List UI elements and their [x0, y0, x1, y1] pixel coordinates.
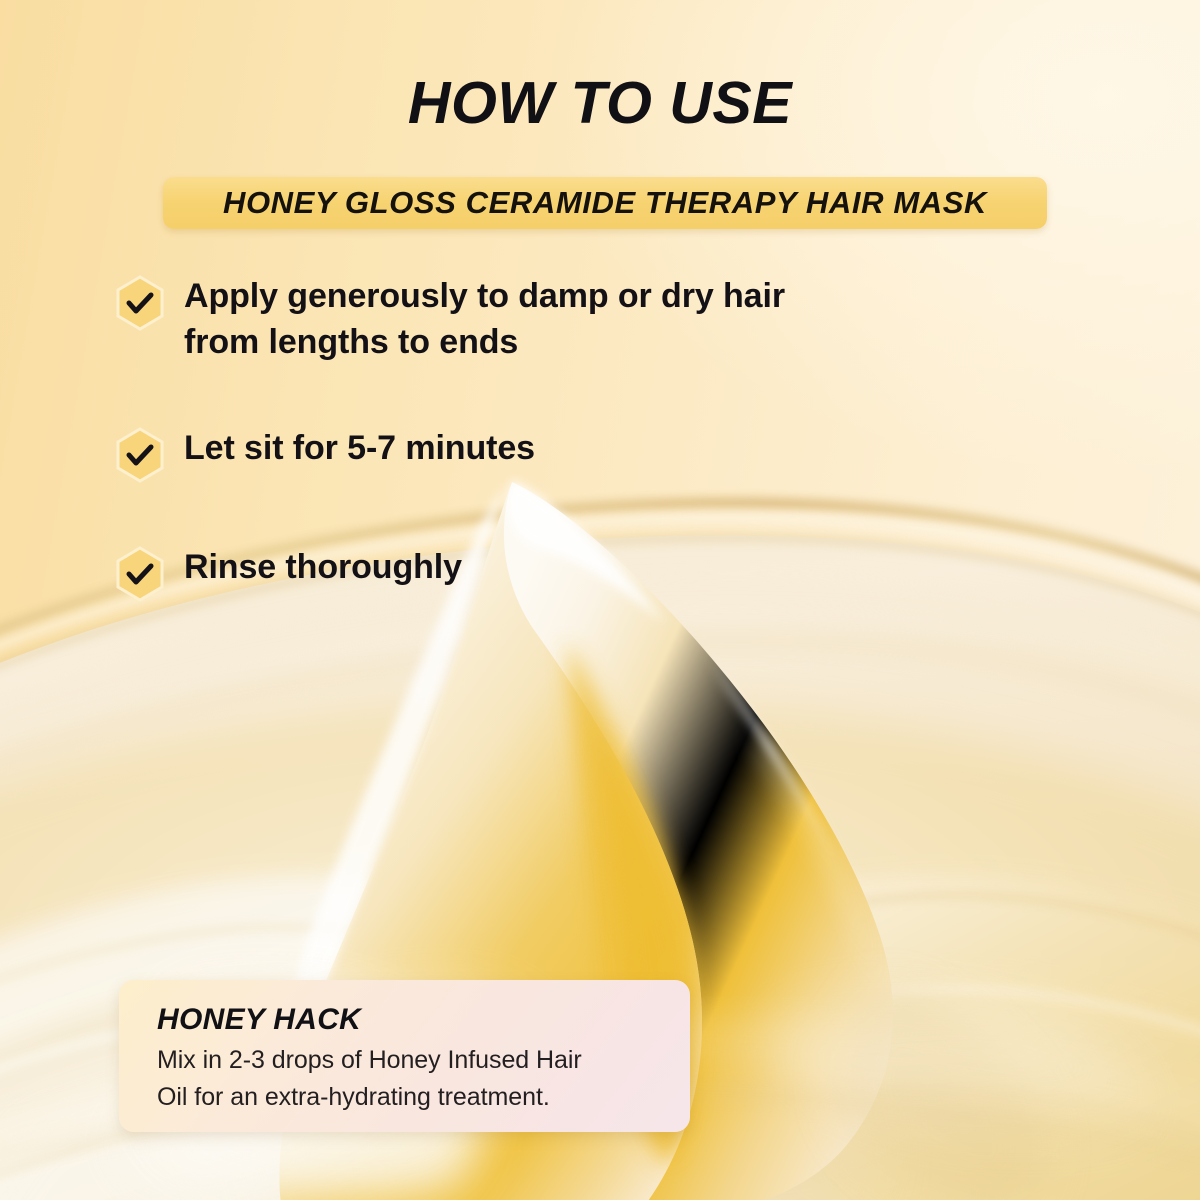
step-label: Let sit for 5-7 minutes [184, 424, 535, 471]
usage-steps-list: Apply generously to damp or dry hair fro… [112, 272, 1012, 603]
product-name-label: HONEY GLOSS CERAMIDE THERAPY HAIR MASK [223, 185, 987, 221]
page-title: HOW TO USE [0, 72, 1200, 134]
product-name-banner: HONEY GLOSS CERAMIDE THERAPY HAIR MASK [163, 177, 1047, 229]
list-item: Let sit for 5-7 minutes [112, 424, 1012, 484]
hexagon-check-icon [112, 426, 168, 484]
hexagon-check-icon [112, 274, 168, 332]
hexagon-check-icon [112, 545, 168, 603]
honey-hack-title: HONEY HACK [157, 1002, 664, 1038]
honey-hack-body: Mix in 2-3 drops of Honey Infused Hair O… [157, 1042, 664, 1116]
honey-hack-card: HONEY HACK Mix in 2-3 drops of Honey Inf… [119, 980, 690, 1132]
marketing-image-canvas: HOW TO USE HONEY GLOSS CERAMIDE THERAPY … [0, 0, 1200, 1200]
step-label: Apply generously to damp or dry hair fro… [184, 272, 785, 365]
list-item: Rinse thoroughly [112, 543, 1012, 603]
list-item: Apply generously to damp or dry hair fro… [112, 272, 1012, 365]
step-label: Rinse thoroughly [184, 543, 462, 590]
